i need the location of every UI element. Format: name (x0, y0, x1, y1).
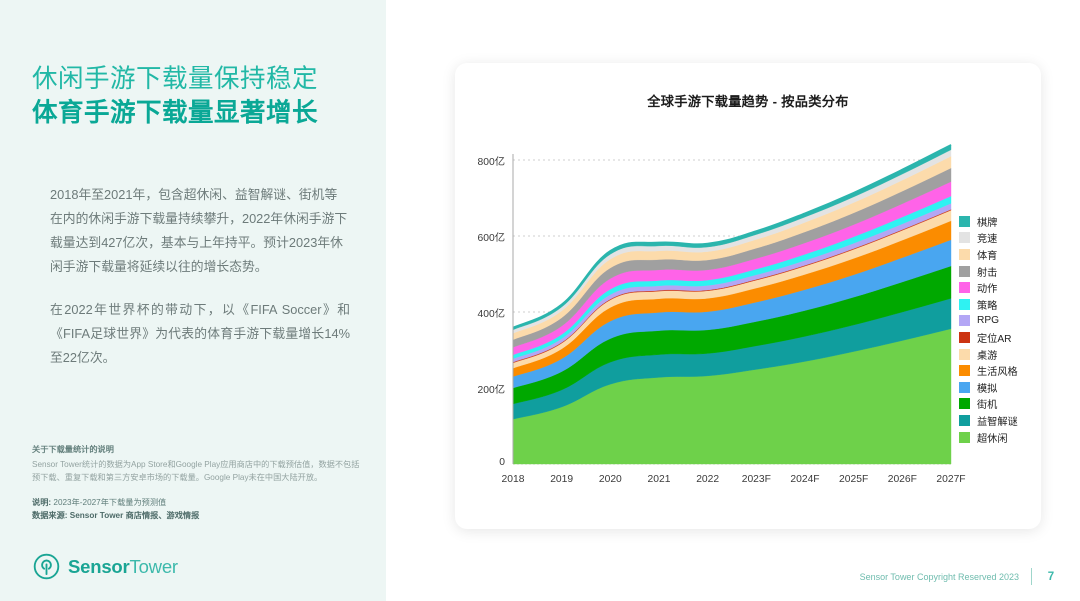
x-axis-tick-2027F: 2027F (926, 474, 976, 485)
note-source: 数据来源: Sensor Tower 商店情报、游戏情报 (32, 509, 362, 522)
legend-swatch-icon (959, 398, 970, 409)
legend-item-RPG[interactable]: RPG (959, 313, 1047, 330)
legend-swatch-icon (959, 382, 970, 393)
sensor-tower-mark-icon (33, 553, 60, 580)
legend-label: 竞速 (977, 230, 997, 245)
body-paragraph-2: 在2022年世界杯的带动下，以《FIFA Soccer》和《FIFA足球世界》为… (50, 298, 350, 370)
legend-label: 桌游 (977, 347, 997, 362)
chart-legend: 棋牌竞速体育射击动作策略RPG定位AR桌游生活风格模拟街机益智解谜超休闲 (959, 213, 1047, 445)
chart-plot-area: 0200亿400亿600亿800亿 2018201920202021202220… (455, 63, 1041, 529)
legend-swatch-icon (959, 415, 970, 426)
legend-item-益智解谜[interactable]: 益智解谜 (959, 412, 1047, 429)
slide-page: 休闲手游下载量保持稳定 体育手游下载量显著增长 2018年至2021年，包含超休… (0, 0, 1080, 601)
x-axis-tick-2024F: 2024F (780, 474, 830, 485)
legend-label: 射击 (977, 264, 997, 279)
headline-block: 休闲手游下载量保持稳定 体育手游下载量显著增长 (32, 62, 362, 130)
legend-swatch-icon (959, 349, 970, 360)
y-axis-tick-800亿: 800亿 (455, 153, 505, 168)
left-text-panel: 休闲手游下载量保持稳定 体育手游下载量显著增长 2018年至2021年，包含超休… (0, 0, 386, 601)
y-axis-tick-0: 0 (455, 457, 505, 468)
legend-swatch-icon (959, 315, 970, 326)
y-axis-tick-400亿: 400亿 (455, 305, 505, 320)
x-axis-tick-2025F: 2025F (829, 474, 879, 485)
legend-item-射击[interactable]: 射击 (959, 263, 1047, 280)
x-axis-tick-2018: 2018 (488, 474, 538, 485)
legend-item-策略[interactable]: 策略 (959, 296, 1047, 313)
legend-label: 策略 (977, 297, 997, 312)
legend-item-体育[interactable]: 体育 (959, 246, 1047, 263)
legend-label: 生活风格 (977, 363, 1018, 378)
legend-item-模拟[interactable]: 模拟 (959, 379, 1047, 396)
legend-label: 体育 (977, 247, 997, 262)
legend-label: RPG (977, 315, 999, 326)
note-body: Sensor Tower统计的数据为App Store和Google Play应… (32, 459, 362, 484)
legend-item-定位AR[interactable]: 定位AR (959, 329, 1047, 346)
legend-label: 模拟 (977, 380, 997, 395)
x-axis-tick-2020: 2020 (585, 474, 635, 485)
footer-copyright: Sensor Tower Copyright Reserved 2023 (860, 572, 1019, 582)
legend-swatch-icon (959, 232, 970, 243)
y-axis-tick-600亿: 600亿 (455, 229, 505, 244)
note-title: 关于下载量统计的说明 (32, 443, 362, 455)
legend-item-生活风格[interactable]: 生活风格 (959, 362, 1047, 379)
headline-line-2: 体育手游下载量显著增长 (32, 96, 362, 130)
headline-line-1: 休闲手游下载量保持稳定 (32, 62, 362, 96)
legend-swatch-icon (959, 266, 970, 277)
legend-label: 动作 (977, 280, 997, 295)
note-explain-value: 2023年-2027年下载量为预测值 (53, 498, 166, 507)
legend-label: 街机 (977, 396, 997, 411)
legend-swatch-icon (959, 299, 970, 310)
x-axis-tick-2023F: 2023F (731, 474, 781, 485)
legend-swatch-icon (959, 282, 970, 293)
stacked-area-svg (455, 63, 1041, 529)
legend-swatch-icon (959, 249, 970, 260)
sensor-tower-logo: SensorTower (33, 553, 178, 580)
legend-swatch-icon (959, 432, 970, 443)
legend-swatch-icon (959, 216, 970, 227)
logo-word-tower: Tower (130, 556, 178, 577)
legend-label: 超休闲 (977, 430, 1008, 445)
legend-item-街机[interactable]: 街机 (959, 396, 1047, 413)
logo-word-sensor: Sensor (68, 556, 130, 577)
body-copy: 2018年至2021年，包含超休闲、益智解谜、街机等在内的休闲手游下载量持续攀升… (50, 183, 350, 389)
x-axis-tick-2022: 2022 (683, 474, 733, 485)
chart-card: 全球手游下载量趋势 - 按品类分布 0200亿400亿600亿800亿 2018… (455, 63, 1041, 529)
notes-block: 关于下载量统计的说明 Sensor Tower统计的数据为App Store和G… (32, 443, 362, 522)
note-source-value: Sensor Tower 商店情报、游戏情报 (70, 511, 200, 520)
legend-item-超休闲[interactable]: 超休闲 (959, 429, 1047, 446)
page-number: 7 (1044, 571, 1058, 583)
x-axis-tick-2021: 2021 (634, 474, 684, 485)
legend-label: 定位AR (977, 330, 1012, 345)
note-source-label: 数据来源: (32, 511, 67, 520)
footer-divider (1031, 568, 1032, 585)
body-paragraph-1: 2018年至2021年，包含超休闲、益智解谜、街机等在内的休闲手游下载量持续攀升… (50, 183, 350, 279)
legend-item-棋牌[interactable]: 棋牌 (959, 213, 1047, 230)
legend-swatch-icon (959, 332, 970, 343)
legend-item-桌游[interactable]: 桌游 (959, 346, 1047, 363)
legend-swatch-icon (959, 365, 970, 376)
footer: Sensor Tower Copyright Reserved 2023 7 (860, 568, 1058, 585)
x-axis-tick-2026F: 2026F (877, 474, 927, 485)
sensor-tower-wordmark: SensorTower (68, 556, 178, 578)
note-explain: 说明: 2023年-2027年下载量为预测值 (32, 496, 362, 509)
legend-item-竞速[interactable]: 竞速 (959, 230, 1047, 247)
legend-label: 益智解谜 (977, 413, 1018, 428)
legend-item-动作[interactable]: 动作 (959, 279, 1047, 296)
legend-label: 棋牌 (977, 214, 997, 229)
x-axis-tick-2019: 2019 (537, 474, 587, 485)
note-explain-label: 说明: (32, 498, 51, 507)
y-axis-tick-200亿: 200亿 (455, 381, 505, 396)
